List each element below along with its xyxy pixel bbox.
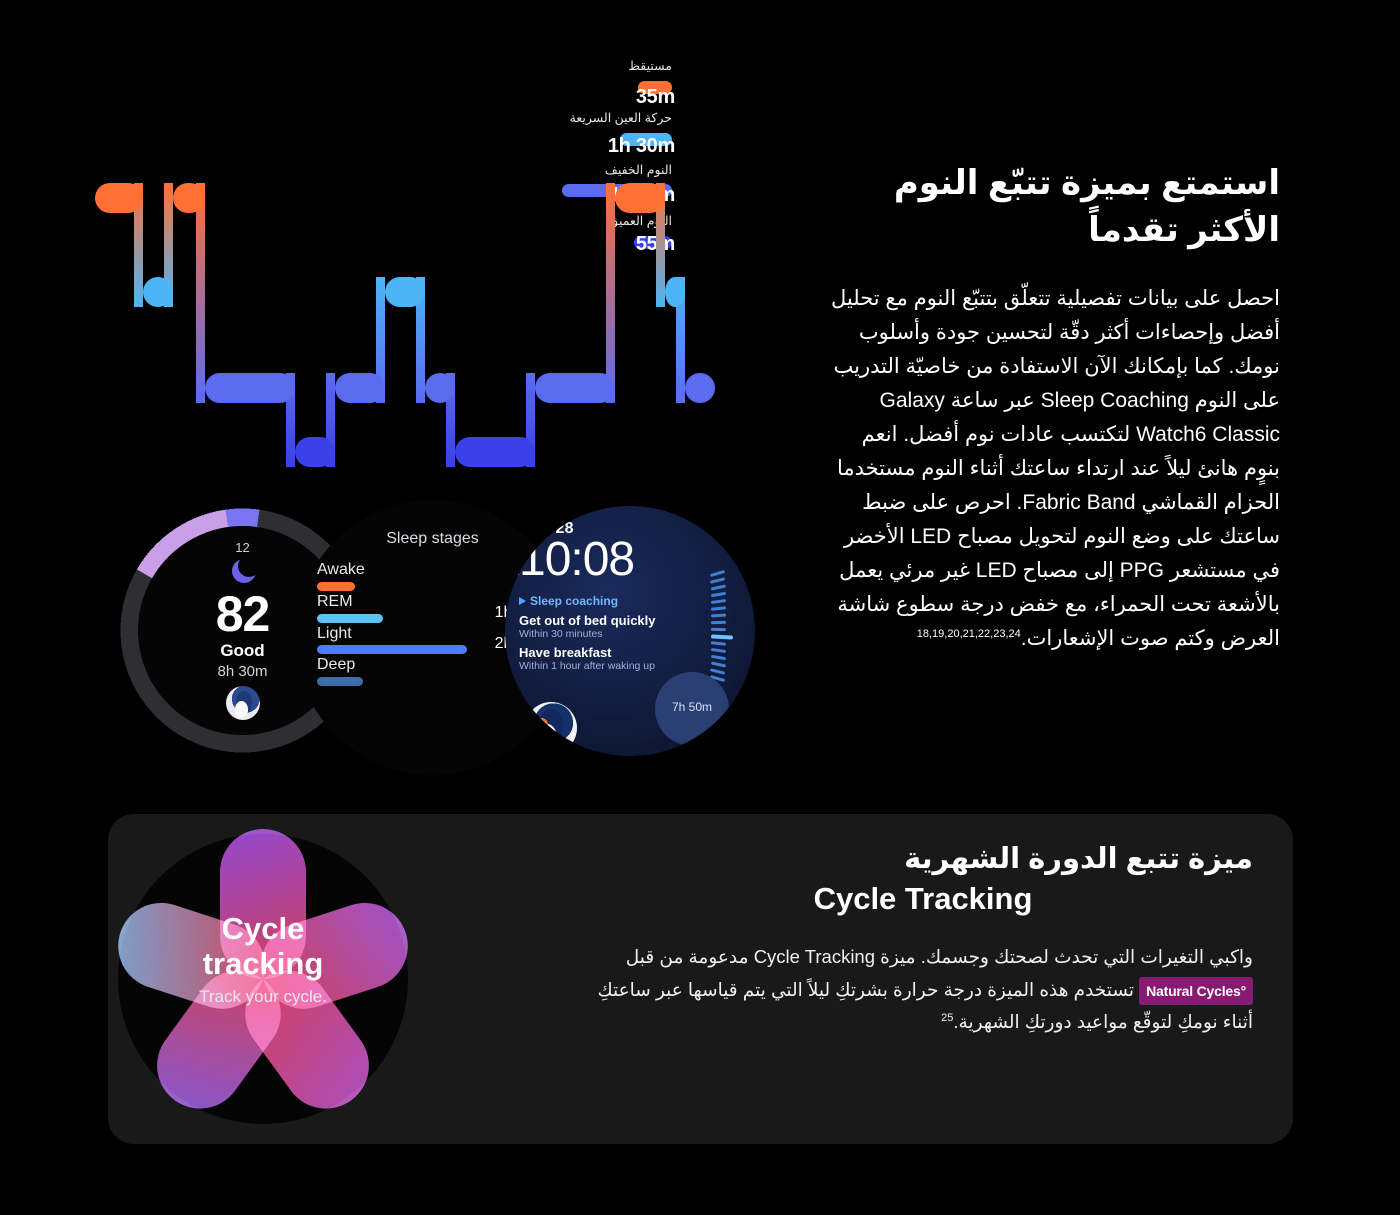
hypnogram-connector (196, 183, 205, 403)
sleep-text-block: استمتع بميزة تتبّع النوم الأكثر تقدماً ا… (830, 160, 1280, 656)
cycle-footnote: 25 (941, 1012, 953, 1024)
cycle-heading-ar: ميزة تتبع الدورة الشهرية (593, 840, 1253, 879)
hypnogram-segment (385, 277, 425, 307)
hypnogram-segment (685, 373, 715, 403)
sleep-score-quality: Good (220, 641, 264, 661)
hypnogram-segment (205, 373, 295, 403)
cycle-graphic-title-2: tracking (118, 947, 408, 982)
hypnogram-segment (665, 277, 685, 307)
cycle-text-block: ميزة تتبع الدورة الشهرية Cycle Tracking … (593, 840, 1253, 1039)
sleep-stage-name: Light (317, 626, 352, 643)
penguin-beak-icon (535, 718, 548, 731)
watch-tick (711, 628, 726, 631)
hypnogram-segment (615, 183, 665, 213)
watch-tick (711, 634, 733, 639)
sleep-stage-bar (317, 614, 383, 623)
watch-tick (711, 614, 726, 618)
sleep-coaching-label: Sleep coaching (530, 594, 618, 608)
sleep-stage-bar (317, 677, 363, 686)
cycle-body-before: واكبي التغيرات التي تحدث لصحتك وجسمك. مي… (626, 946, 1253, 967)
watch-tick (711, 648, 726, 653)
watch-tick (711, 655, 726, 661)
watch-tick-marks (691, 564, 745, 684)
sleep-headline: استمتع بميزة تتبّع النوم الأكثر تقدماً (830, 160, 1280, 254)
watch-tick (711, 599, 726, 604)
cycle-graphic-subtitle: Track your cycle. (118, 987, 408, 1007)
hypnogram-segment (335, 373, 385, 403)
watch-tick (711, 592, 726, 598)
sleep-stage-name: Deep (317, 657, 355, 674)
watch-tick (711, 606, 726, 610)
sleep-body: احصل على بيانات تفصيلية تتعلّق بتتبّع ال… (830, 282, 1280, 656)
penguin-avatar-icon (525, 702, 577, 754)
sleep-legend-time: 35m (560, 60, 675, 109)
sleep-body-text: احصل على بيانات تفصيلية تتعلّق بتتبّع ال… (831, 287, 1280, 650)
cycle-tracking-card: ميزة تتبع الدورة الشهرية Cycle Tracking … (108, 814, 1293, 1144)
hypnogram-segment (535, 373, 615, 403)
moon-icon (230, 559, 256, 585)
hour-marker: 12 (235, 540, 249, 555)
sleep-score-value: 82 (216, 589, 270, 639)
watch-tick (710, 661, 725, 667)
cycle-graphic-title-1: Cycle (118, 912, 408, 947)
sleep-duration: 8h 30m (217, 663, 267, 680)
cycle-body: واكبي التغيرات التي تحدث لصحتك وجسمك. مي… (593, 941, 1253, 1038)
watch-tick (710, 584, 725, 590)
natural-cycles-badge: Natural Cycles° (1139, 977, 1253, 1006)
sleep-stage-name: Awake (317, 562, 365, 579)
sleep-stage-bar (317, 582, 355, 591)
sleep-legend-time: 1h 30m (560, 109, 675, 158)
penguin-avatar-icon (226, 686, 260, 720)
cycle-heading-en: Cycle Tracking (593, 879, 1253, 919)
hypnogram-segment (95, 183, 143, 213)
hypnogram-segment (425, 373, 455, 403)
watch-tick (711, 621, 726, 624)
watch-tick (710, 570, 725, 577)
cycle-graphic-label: Cycle tracking Track your cycle. (118, 912, 408, 1007)
coaching-arrow-icon (519, 597, 526, 605)
sleep-footnotes: 18,19,20,21,22,23,24 (917, 628, 1021, 640)
hypnogram-segment (143, 277, 173, 307)
watch-tick (710, 668, 725, 675)
watch-sleep-coaching[interactable]: SAT 28 10:08 Sleep coaching Get out of b… (505, 506, 755, 756)
watch-tick (710, 577, 725, 584)
sleep-hypnogram-chart (95, 165, 715, 475)
sleep-stage-name: REM (317, 594, 353, 611)
sleep-total-complication[interactable]: 7h 50m (655, 672, 729, 746)
sleep-total-value: 7h 50m (655, 700, 729, 714)
hypnogram-segment (173, 183, 205, 213)
hypnogram-connector (606, 183, 615, 403)
hypnogram-segment (295, 437, 335, 467)
watch-tick (711, 641, 726, 645)
sleep-stage-bar (317, 645, 467, 654)
watch-faces-row: 12 82 Good 8h 30m Sleep stages Awake50mR… (100, 500, 750, 790)
hypnogram-segment (455, 437, 535, 467)
cycle-tracking-graphic: Cycle tracking Track your cycle. (118, 834, 408, 1124)
sleep-coaching-content: SAT 28 10:08 Sleep coaching Get out of b… (505, 506, 755, 756)
